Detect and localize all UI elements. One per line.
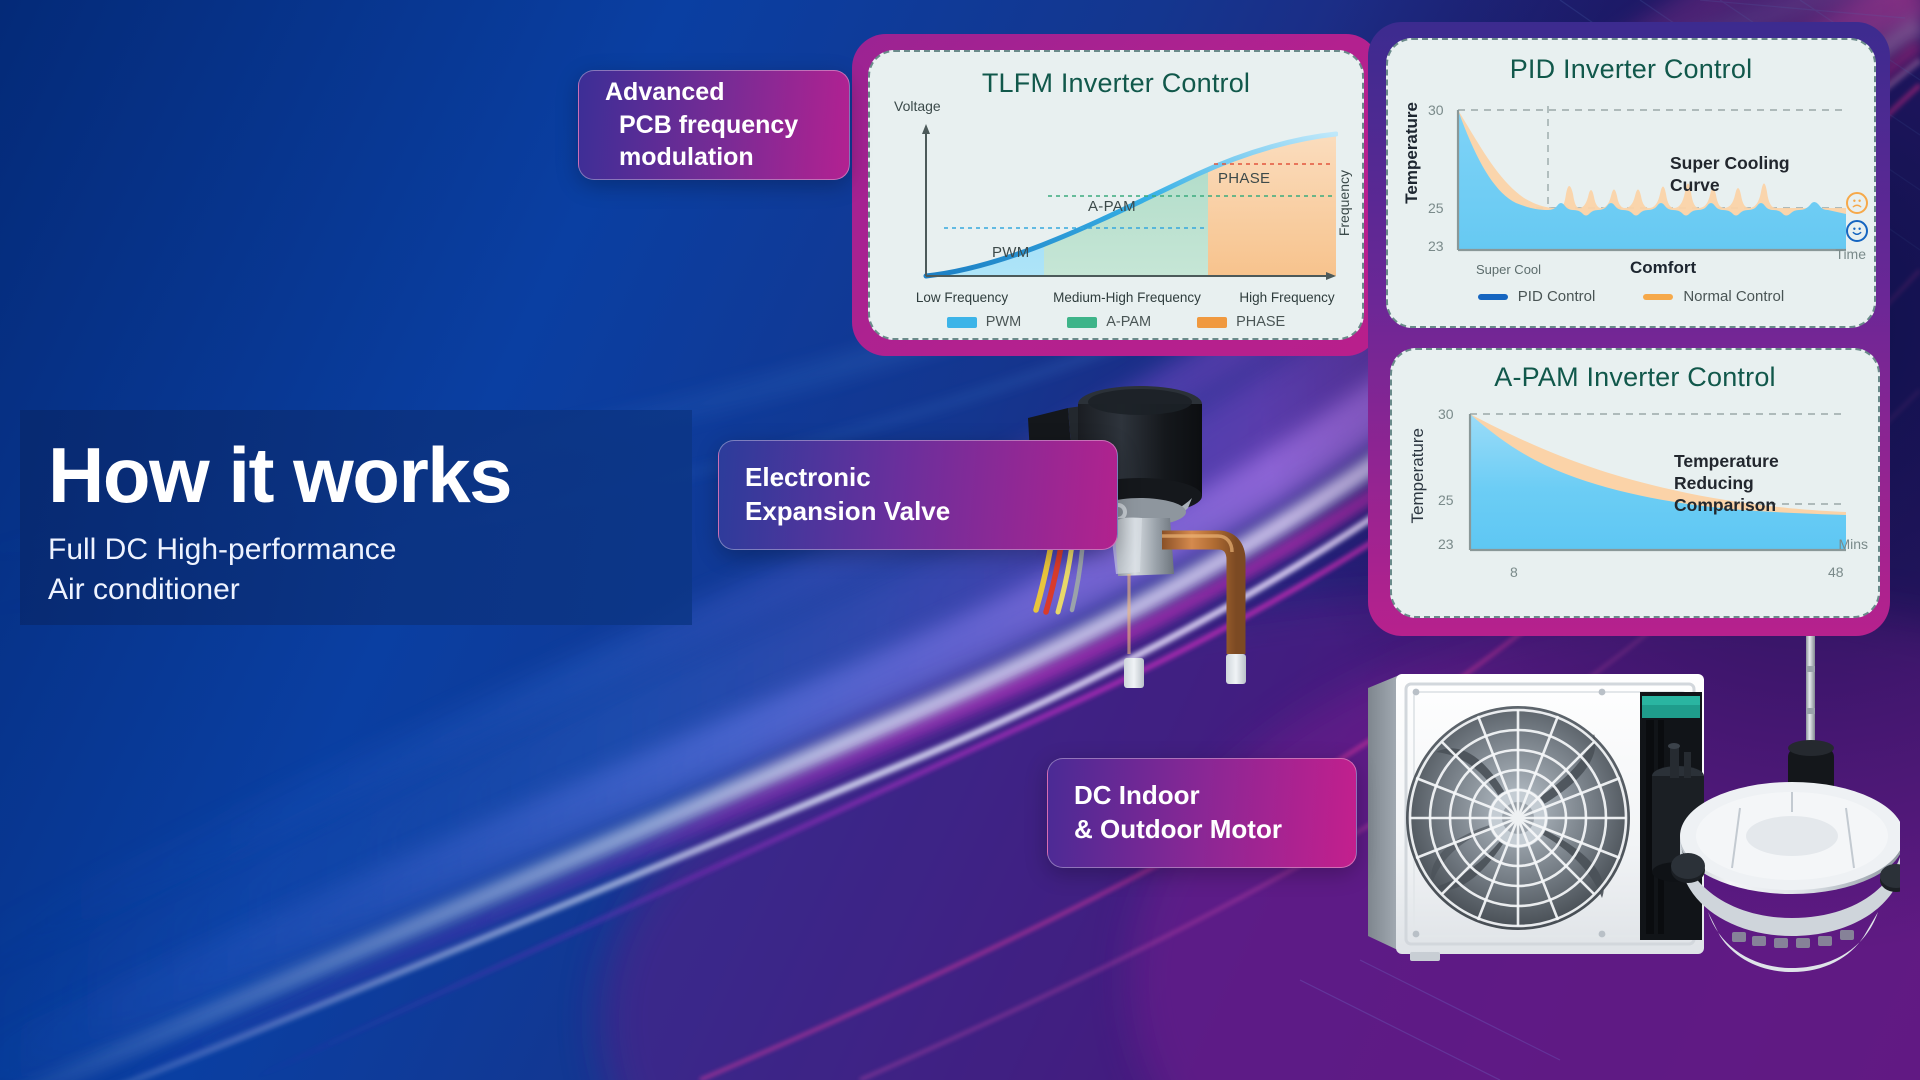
tlfm-region-label-phase: PHASE (1218, 170, 1270, 187)
tlfm-legend: PWM A-PAM PHASE (870, 314, 1362, 330)
legend-label-pid-control: PID Control (1518, 288, 1596, 305)
badge-advanced-pcb-frequency-modulation[interactable]: Advanced PCB frequency modulation (578, 70, 850, 180)
pid-y-tick-30: 30 (1428, 102, 1444, 118)
badge-pcb-line1: Advanced (605, 76, 798, 109)
legend-label-normal-control: Normal Control (1683, 288, 1784, 305)
apam-y-tick-30: 30 (1438, 406, 1454, 422)
tlfm-x-tick-labels: Low Frequency Medium-High Frequency High… (892, 290, 1352, 305)
legend-item-normal-control[interactable]: Normal Control (1643, 288, 1784, 305)
pid-y-tick-23: 23 (1428, 238, 1444, 254)
tlfm-y-axis-label: Voltage (894, 98, 941, 114)
pid-y-tick-25: 25 (1428, 200, 1444, 216)
badge-pcb-line3: modulation (605, 141, 798, 174)
chart-card-pid: PID Inverter Control Temperature 30 25 2… (1386, 38, 1876, 328)
apam-annotation-line2: Reducing (1674, 472, 1779, 494)
legend-swatch-pid-control (1478, 294, 1508, 300)
pid-annotation-line2: Curve (1670, 174, 1790, 196)
badge-dc-indoor-outdoor-motor[interactable]: DC Indoor & Outdoor Motor (1047, 758, 1357, 868)
badge-motor-line1: DC Indoor (1074, 779, 1282, 813)
pid-plot (1450, 104, 1850, 260)
legend-label-apam: A-PAM (1106, 314, 1151, 330)
legend-item-pid-control[interactable]: PID Control (1478, 288, 1596, 305)
legend-swatch-pwm (947, 317, 977, 328)
outdoor-unit-and-motor-photo (1340, 636, 1900, 976)
chart-card-tlfm: TLFM Inverter Control Voltage Frequency (868, 50, 1364, 340)
tlfm-x-axis-label: Frequency (1336, 170, 1352, 236)
page-subtitle-line2: Air conditioner (48, 570, 692, 610)
badge-motor-line2: & Outdoor Motor (1074, 813, 1282, 847)
apam-y-axis-label: Temperature (1408, 428, 1428, 523)
apam-x-axis-label: Mins (1838, 536, 1868, 552)
page-title: How it works (48, 436, 692, 514)
legend-label-pwm: PWM (986, 314, 1021, 330)
legend-item-phase[interactable]: PHASE (1197, 314, 1285, 330)
legend-swatch-normal-control (1643, 294, 1673, 300)
legend-swatch-phase (1197, 317, 1227, 328)
chart-title-pid: PID Inverter Control (1388, 40, 1874, 85)
tlfm-x-tick-high: High Frequency (1222, 290, 1352, 305)
tlfm-x-tick-medium: Medium-High Frequency (1032, 290, 1222, 305)
apam-annotation-line1: Temperature (1674, 450, 1779, 472)
apam-y-tick-23: 23 (1438, 536, 1454, 552)
pid-annotation-line1: Super Cooling (1670, 152, 1790, 174)
badge-valve-line1: Electronic (745, 461, 950, 495)
pid-zone-super-cool: Super Cool (1476, 262, 1541, 277)
apam-annotation: Temperature Reducing Comparison (1674, 450, 1779, 516)
legend-item-apam[interactable]: A-PAM (1067, 314, 1151, 330)
badge-pcb-line2: PCB frequency (605, 109, 798, 142)
legend-item-pwm[interactable]: PWM (947, 314, 1021, 330)
page-subtitle: Full DC High-performance Air conditioner (48, 530, 692, 609)
page-title-block: How it works Full DC High-performance Ai… (20, 410, 692, 625)
tlfm-region-label-pwm: PWM (992, 244, 1030, 261)
legend-label-phase: PHASE (1236, 314, 1285, 330)
apam-plot (1462, 408, 1850, 560)
pid-x-axis-label: Time (1835, 246, 1866, 262)
frowning-face-icon (1846, 192, 1868, 214)
smiling-face-icon (1846, 220, 1868, 242)
apam-annotation-line3: Comparison (1674, 494, 1779, 516)
tlfm-region-label-apam: A-PAM (1088, 198, 1136, 215)
pid-zone-comfort: Comfort (1630, 258, 1696, 278)
pid-y-axis-label: Temperature (1402, 102, 1422, 204)
chart-title-tlfm: TLFM Inverter Control (870, 52, 1362, 99)
page-subtitle-line1: Full DC High-performance (48, 530, 692, 570)
badge-electronic-expansion-valve[interactable]: Electronic Expansion Valve (718, 440, 1118, 550)
pid-legend: PID Control Normal Control (1388, 288, 1874, 305)
chart-title-apam: A-PAM Inverter Control (1392, 350, 1878, 393)
apam-y-tick-25: 25 (1438, 492, 1454, 508)
apam-x-tick-48: 48 (1828, 564, 1844, 580)
badge-valve-line2: Expansion Valve (745, 495, 950, 529)
chart-card-apam: A-PAM Inverter Control Temperature 30 25… (1390, 348, 1880, 618)
apam-x-tick-8: 8 (1510, 564, 1518, 580)
pid-annotation: Super Cooling Curve (1670, 152, 1790, 196)
legend-swatch-apam (1067, 317, 1097, 328)
tlfm-x-tick-low: Low Frequency (892, 290, 1032, 305)
